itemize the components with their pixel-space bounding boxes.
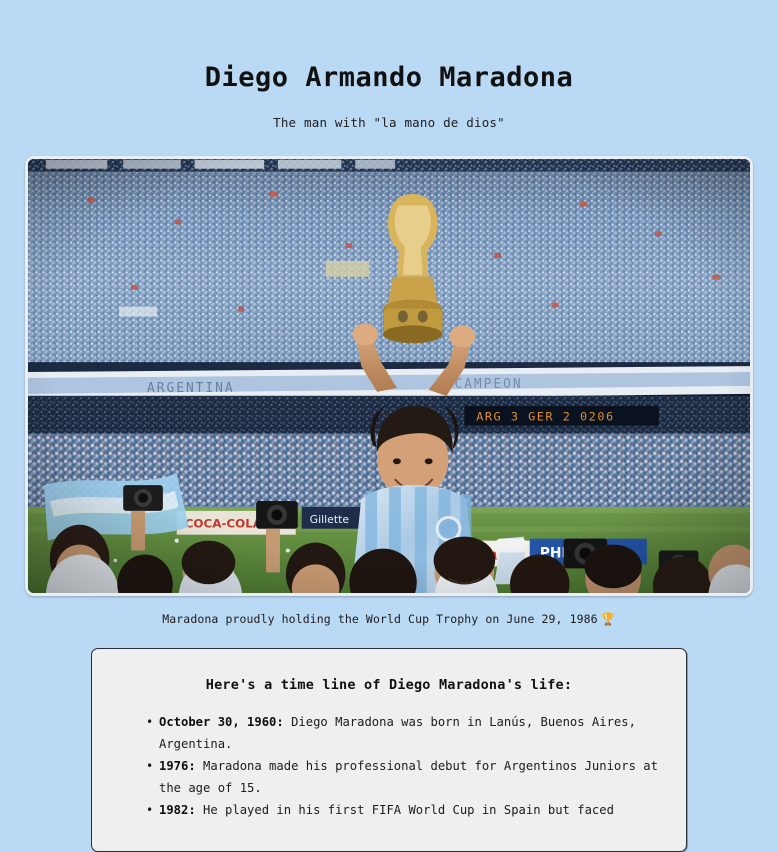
figure-caption-text: Maradona proudly holding the World Cup T… [162, 612, 597, 626]
timeline-heading: Here's a time line of Diego Maradona's l… [120, 675, 658, 711]
figure-caption: Maradona proudly holding the World Cup T… [22, 596, 756, 626]
maradona-photo: ARGENTINA CAMPEON ARG 3 GER 2 0206 [25, 156, 753, 596]
timeline-item: 1976: Maradona made his professional deb… [146, 755, 658, 799]
timeline-item-text: Maradona made his professional debut for… [159, 759, 658, 795]
timeline-list: October 30, 1960: Diego Maradona was bor… [120, 711, 658, 821]
timeline-card: Here's a time line of Diego Maradona's l… [91, 648, 687, 852]
timeline-item: October 30, 1960: Diego Maradona was bor… [146, 711, 658, 755]
page-subtitle: The man with "la mano de dios" [22, 93, 756, 130]
timeline-item-text: He played in his first FIFA World Cup in… [196, 803, 614, 817]
page-root: Diego Armando Maradona The man with "la … [0, 0, 778, 852]
timeline-item: 1982: He played in his first FIFA World … [146, 799, 658, 821]
timeline-item-date: October 30, 1960: [159, 715, 284, 729]
hero-figure: ARGENTINA CAMPEON ARG 3 GER 2 0206 [22, 130, 756, 626]
page-title: Diego Armando Maradona [22, 0, 756, 93]
maradona-photo-illustration: ARGENTINA CAMPEON ARG 3 GER 2 0206 [28, 159, 750, 593]
timeline-item-date: 1976: [159, 759, 196, 773]
trophy-icon: 🏆 [598, 612, 616, 626]
timeline-item-date: 1982: [159, 803, 196, 817]
